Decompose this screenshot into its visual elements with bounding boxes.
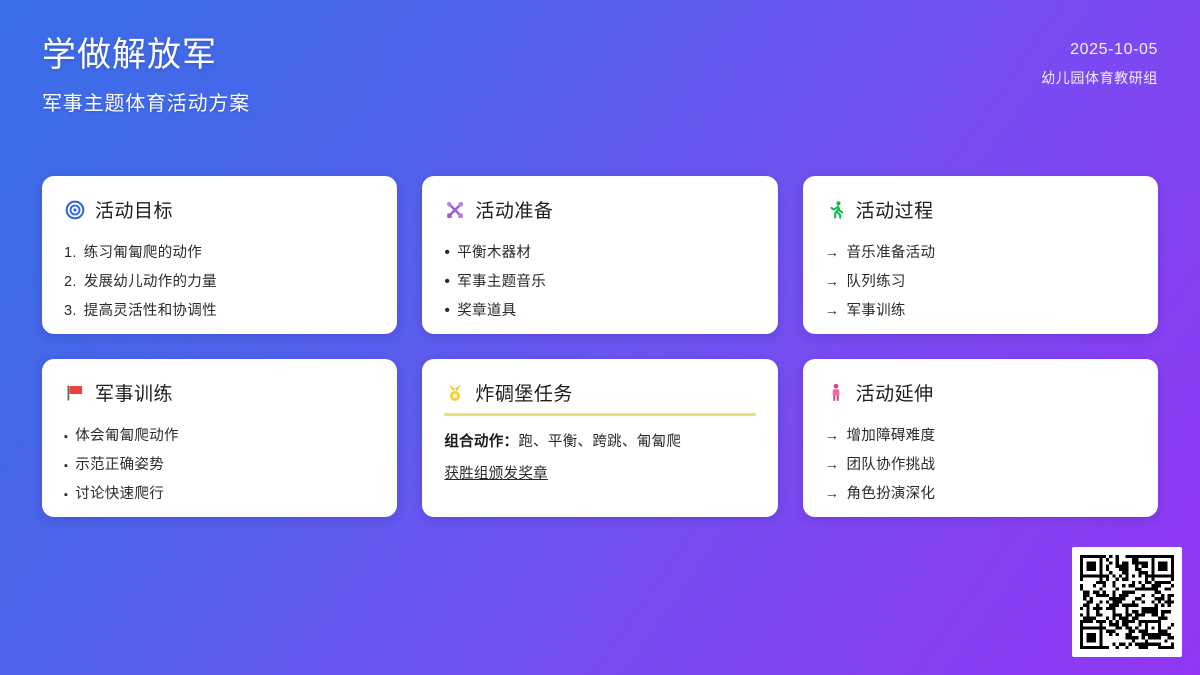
list-marker: • [444, 274, 450, 290]
card-activity-preparation[interactable]: 活动准备 • 平衡木器材 • 军事主题音乐 • 奖章道具 [422, 176, 777, 334]
list-item: 1. 练习匍匐爬的动作 [64, 244, 375, 262]
card-accent-rule [444, 413, 755, 416]
card-bunker-mission[interactable]: 炸碉堡任务 组合动作：跑、平衡、跨跳、匍匐爬 获胜组颁发奖章 [422, 359, 777, 517]
combo-actions-value: 跑、平衡、跨跳、匍匐爬 [518, 434, 681, 450]
card-header: 炸碉堡任务 [444, 379, 755, 413]
list-item: → 军事训练 [825, 302, 1136, 320]
list-item-text: 军事训练 [846, 302, 905, 320]
card-title: 活动准备 [475, 196, 553, 223]
list-item-text: 奖章道具 [457, 302, 516, 320]
list-marker: → [825, 485, 840, 503]
card-activity-goals[interactable]: 活动目标 1. 练习匍匐爬的动作 2. 发展幼儿动作的力量 3. 提高灵活性和协… [42, 176, 397, 334]
list-item: 2. 发展幼儿动作的力量 [64, 273, 375, 291]
qr-code-image [1080, 555, 1174, 649]
list-item: ▪ 体会匍匐爬动作 [64, 427, 375, 445]
card-title: 活动过程 [856, 196, 934, 223]
list-item: ▪ 讨论快速爬行 [64, 485, 375, 503]
list-marker: ▪ [64, 460, 68, 474]
list-item-text: 角色扮演深化 [846, 485, 935, 503]
card-grid: 活动目标 1. 练习匍匐爬的动作 2. 发展幼儿动作的力量 3. 提高灵活性和协… [42, 176, 1158, 517]
list-item-text: 增加障碍难度 [846, 427, 935, 445]
list-marker: → [825, 456, 840, 474]
list-item: → 角色扮演深化 [825, 485, 1136, 503]
card-title: 活动延伸 [856, 379, 934, 406]
list-marker: → [825, 427, 840, 445]
list-marker: • [444, 245, 450, 261]
list-marker: → [825, 273, 840, 291]
list-marker: ▪ [64, 431, 68, 445]
card-body: 组合动作：跑、平衡、跨跳、匍匐爬 获胜组颁发奖章 [444, 430, 755, 483]
list-item-text: 提高灵活性和协调性 [84, 302, 217, 320]
list-item-text: 体会匍匐爬动作 [75, 427, 179, 445]
medal-icon [444, 382, 466, 404]
card-body: ▪ 体会匍匐爬动作 ▪ 示范正确姿势 ▪ 讨论快速爬行 [64, 427, 375, 503]
running-person-icon [825, 199, 847, 221]
card-header: 活动延伸 [825, 379, 1136, 413]
list-item-text: 示范正确姿势 [75, 456, 164, 474]
standing-person-icon [825, 382, 847, 404]
card-body: • 平衡木器材 • 军事主题音乐 • 奖章道具 [444, 244, 755, 320]
header-title-block: 学做解放军 军事主题体育活动方案 [42, 34, 250, 116]
list-item-text: 平衡木器材 [457, 244, 531, 262]
card-title: 军事训练 [95, 379, 173, 406]
reward-note[interactable]: 获胜组颁发奖章 [444, 462, 755, 483]
list-item-text: 团队协作挑战 [846, 456, 935, 474]
list-item-text: 音乐准备活动 [846, 244, 935, 262]
list-item: → 队列练习 [825, 273, 1136, 291]
list-marker: • [444, 303, 450, 319]
list-item-text: 队列练习 [846, 273, 905, 291]
card-activity-process[interactable]: 活动过程 → 音乐准备活动 → 队列练习 → 军事训练 [803, 176, 1158, 334]
combo-actions-label: 组合动作： [444, 434, 518, 450]
combo-actions-line: 组合动作：跑、平衡、跨跳、匍匐爬 [444, 430, 755, 451]
card-body: → 增加障碍难度 → 团队协作挑战 → 角色扮演深化 [825, 427, 1136, 503]
list-item: → 音乐准备活动 [825, 244, 1136, 262]
card-body: → 音乐准备活动 → 队列练习 → 军事训练 [825, 244, 1136, 320]
list-marker: 1. [64, 244, 77, 262]
list-marker: → [825, 244, 840, 262]
page-subtitle: 军事主题体育活动方案 [42, 87, 250, 116]
presentation-organization: 幼儿园体育教研组 [1041, 68, 1158, 88]
page-title: 学做解放军 [42, 34, 250, 77]
card-header: 活动准备 [444, 196, 755, 230]
header-meta-block: 2025-10-05 幼儿园体育教研组 [1041, 34, 1158, 88]
list-item: → 增加障碍难度 [825, 427, 1136, 445]
list-item-text: 练习匍匐爬的动作 [84, 244, 202, 262]
list-item-text: 讨论快速爬行 [75, 485, 164, 503]
card-header: 活动过程 [825, 196, 1136, 230]
card-activity-extension[interactable]: 活动延伸 → 增加障碍难度 → 团队协作挑战 → 角色扮演深化 [803, 359, 1158, 517]
page-header: 学做解放军 军事主题体育活动方案 2025-10-05 幼儿园体育教研组 [0, 0, 1200, 150]
card-military-training[interactable]: 军事训练 ▪ 体会匍匐爬动作 ▪ 示范正确姿势 ▪ 讨论快速爬行 [42, 359, 397, 517]
list-item: → 团队协作挑战 [825, 456, 1136, 474]
hammer-and-wrench-icon [444, 199, 466, 221]
card-header: 军事训练 [64, 379, 375, 413]
card-title: 炸碉堡任务 [475, 379, 573, 406]
list-item: 3. 提高灵活性和协调性 [64, 302, 375, 320]
target-icon [64, 199, 86, 221]
list-item: • 奖章道具 [444, 302, 755, 320]
list-marker: 2. [64, 273, 77, 291]
list-item: • 平衡木器材 [444, 244, 755, 262]
card-title: 活动目标 [95, 196, 173, 223]
card-body: 1. 练习匍匐爬的动作 2. 发展幼儿动作的力量 3. 提高灵活性和协调性 [64, 244, 375, 320]
list-marker: ▪ [64, 489, 68, 503]
list-item: ▪ 示范正确姿势 [64, 456, 375, 474]
presentation-date: 2025-10-05 [1070, 41, 1158, 59]
list-item-text: 军事主题音乐 [457, 273, 546, 291]
card-header: 活动目标 [64, 196, 375, 230]
list-marker: → [825, 302, 840, 320]
list-item: • 军事主题音乐 [444, 273, 755, 291]
list-item-text: 发展幼儿动作的力量 [84, 273, 217, 291]
qr-code[interactable] [1072, 547, 1182, 657]
list-marker: 3. [64, 302, 77, 320]
red-flag-icon [64, 382, 86, 404]
